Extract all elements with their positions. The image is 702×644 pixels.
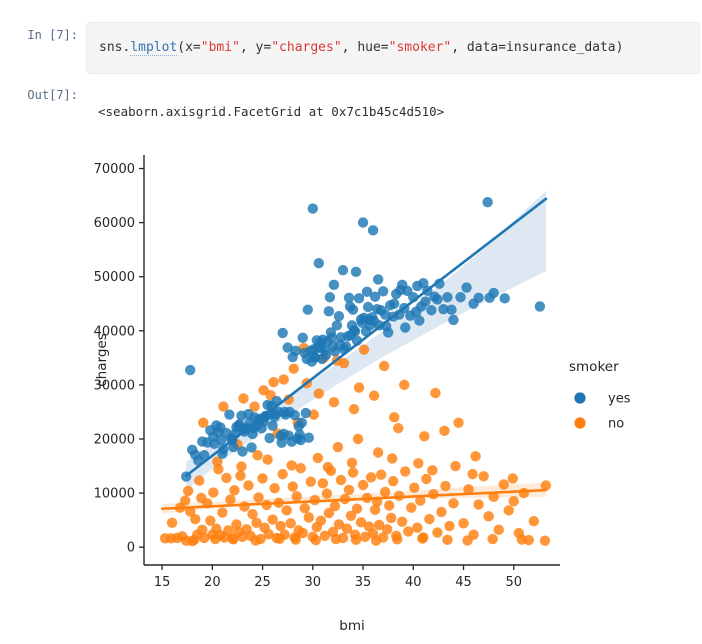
scatter-point [473,293,483,303]
scatter-point [250,535,260,545]
scatter-point [325,292,335,302]
y-tick-label: 20000 [94,432,135,447]
scatter-point [303,305,313,315]
y-axis-label: charges [94,333,110,386]
scatter-point [327,333,337,343]
scatter-point [210,534,220,544]
scatter-point [400,322,410,332]
scatter-point [363,302,373,312]
scatter-point [224,409,234,419]
scatter-point [313,453,323,463]
scatter-point [395,285,405,295]
scatter-point [269,483,279,493]
scatter-point [234,419,244,429]
code-line[interactable]: sns.lmplot(x="bmi", y="charges", hue="sm… [99,39,623,57]
scatter-point [414,315,424,325]
scatter-point [500,293,510,303]
scatter-point [508,473,518,483]
scatter-point [455,292,465,302]
scatter-point [277,469,287,479]
scatter-point [393,423,403,433]
scatter-point [253,492,263,502]
scatter-point [517,534,527,544]
scatter-point [430,388,440,398]
scatter-point [274,534,284,544]
scatter-point [235,471,245,481]
code-token-function: lmplot [130,40,177,56]
scatter-point [339,358,349,368]
code-token-module: sns. [99,40,130,55]
scatter-point [286,518,296,528]
code-token-arg-hue: , hue= [342,40,389,55]
scatter-point [276,438,286,448]
x-tick-label: 15 [154,575,171,590]
scatter-point [358,480,368,490]
scatter-point [333,442,343,452]
scatter-point [399,380,409,390]
x-tick-label: 50 [506,575,523,590]
scatter-point [217,507,227,517]
scatter-point [467,469,477,479]
scatter-point [351,267,361,277]
scatter-point [499,479,509,489]
scatter-point [190,514,200,524]
scatter-point [314,258,324,268]
legend: smoker yesno [569,359,631,432]
scatter-point [439,426,449,436]
regression-line-yes [186,199,546,476]
scatter-point [488,288,498,298]
scatter-point [221,473,231,483]
scatter-point [389,299,399,309]
scatter-point [426,305,436,315]
scatter-point [194,475,204,485]
scatter-point [382,524,392,534]
input-prompt: In [7]: [0,28,78,42]
scatter-point [362,287,372,297]
scatter-point [440,481,450,491]
scatter-point [354,382,364,392]
scatter-point [436,507,446,517]
scatter-point [450,461,460,471]
scatter-point [278,374,288,384]
scatter-point [304,512,314,522]
x-tick-label: 35 [355,575,372,590]
scatter-point [321,350,331,360]
scatter-point [432,294,442,304]
scatter-point [262,454,272,464]
scatter-point [379,361,389,371]
x-tick-label: 40 [405,575,422,590]
scatter-point [349,325,359,335]
scatter-point [442,292,452,302]
scatter-point [267,514,277,524]
scatter-point [354,293,364,303]
scatter-point [304,433,314,443]
scatter-point [338,265,348,275]
scatter-point [529,516,539,526]
scatter-point [419,431,429,441]
scatter-point [323,462,333,472]
scatter-point [420,296,430,306]
scatter-point [246,442,256,452]
scatter-point [483,511,493,521]
scatter-point [329,397,339,407]
scatter-point [409,482,419,492]
scatter-point [448,498,458,508]
scatter-point [353,434,363,444]
code-token-string-bmi: "bmi" [201,40,240,55]
scatter-point [369,316,379,326]
scatter-point [279,407,289,417]
scatter-point [478,471,488,481]
scatter-point [403,526,413,536]
scatter-point [264,433,274,443]
scatter-point [336,475,346,485]
scatter-point [359,345,369,355]
y-tick-label: 70000 [94,162,135,177]
scatter-point [291,534,301,544]
scatter-point [417,533,427,543]
code-token-string-smoker: "smoker" [389,40,452,55]
scatter-point [277,328,287,338]
scatter-point [291,346,301,356]
scatter-point [371,535,381,545]
scatter-point [397,517,407,527]
scatter-point [236,461,246,471]
scatter-point [243,480,253,490]
scatter-point [225,494,235,504]
scatter-point [369,391,379,401]
scatter-point [348,467,358,477]
scatter-point [322,488,332,498]
scatter-point [258,385,268,395]
scatter-point [400,466,410,476]
scatter-point [482,197,492,207]
y-tick-label: 0 [127,541,135,556]
scatter-point [351,535,361,545]
scatter-point [239,501,249,511]
scatter-point [329,280,339,290]
scatter-point [412,281,422,291]
code-token-arg-y: , y= [240,40,271,55]
scatter-point [357,317,367,327]
scatter-point [373,274,383,284]
scatter-point [307,356,317,366]
y-tick-label: 60000 [94,216,135,231]
legend-entries: yesno [574,392,630,432]
scatter-point [487,534,497,544]
scatter-point [296,463,306,473]
scatter-point [432,527,442,537]
scatter-point [344,293,354,303]
seaborn-lmplot-figure: 010000200003000040000500006000070000 152… [0,130,702,644]
scatter-point [257,473,267,483]
scatter-point [458,518,468,528]
code-token-arg-x: (x= [177,40,200,55]
x-axis-label: bmi [339,618,364,634]
scatter-point [209,439,219,449]
scatter-point [268,377,278,387]
scatter-point [387,453,397,463]
scatter-point [444,521,454,531]
legend-title: smoker [569,359,619,375]
code-token-arg-data: , data=insurance_data) [451,40,623,55]
plot-canvas: 010000200003000040000500006000070000 152… [0,130,702,644]
scatter-point [453,418,463,428]
scatter-point [298,333,308,343]
scatter-point [344,485,354,495]
scatter-point [347,458,357,468]
scatter-point [300,503,310,513]
legend-label-no: no [608,417,624,432]
scatter-point [292,491,302,501]
scatter-point [470,451,480,461]
scatter-point [287,460,297,470]
scatter-point [373,447,383,457]
scatter-point [461,282,471,292]
scatter-point [288,481,298,491]
scatter-point [316,515,326,525]
scatter-point [446,305,456,315]
scatter-point [413,458,423,468]
scatter-point [509,496,519,506]
x-axis-ticks: 1520253035404550 [154,565,522,590]
legend-marker-yes [574,392,585,403]
scatter-point [189,535,199,545]
scatter-point [519,488,529,498]
scatter-point [348,305,358,315]
scatter-point [183,486,193,496]
scatter-point [349,404,359,414]
scatter-point [335,340,345,350]
scatter-point [167,518,177,528]
scatter-point [427,465,437,475]
scatter-point [308,203,318,213]
x-tick-label: 20 [204,575,221,590]
scatter-point [421,474,431,484]
code-editor[interactable]: sns.lmplot(x="bmi", y="charges", hue="sm… [86,22,700,74]
y-tick-label: 50000 [94,270,135,285]
scatter-point [535,301,545,311]
scatter-point [473,499,483,509]
scatter-point [412,522,422,532]
scatter-point [358,217,368,227]
scatter-point [330,501,340,511]
scatter-point [237,446,247,456]
scatter-point [311,535,321,545]
code-token-string-charges: "charges" [271,40,341,55]
scatter-point [281,505,291,515]
scatter-point [368,225,378,235]
scatter-point [297,418,307,428]
scatter-point [238,393,248,403]
scatter-point [462,535,472,545]
scatter-point [331,534,341,544]
scatter-point [289,363,299,373]
output-repr-text: <seaborn.axisgrid.FacetGrid at 0x7c1b45c… [98,104,444,119]
scatter-point [306,477,316,487]
scatter-point [332,320,342,330]
legend-marker-no [574,417,585,428]
y-tick-label: 10000 [94,487,135,502]
scatter-point [334,311,344,321]
scatter-point [384,500,394,510]
scatter-point [314,388,324,398]
scatter-point [228,534,238,544]
scatter-point [383,327,393,337]
scatter-point [324,306,334,316]
scatter-point [424,514,434,524]
scatter-point [208,487,218,497]
output-prompt: Out[7]: [0,88,78,102]
scatter-point [380,487,390,497]
scatter-point [301,408,311,418]
scatter-point [389,412,399,422]
scatter-point [295,429,305,439]
scatter-point [366,472,376,482]
scatter-point [392,534,402,544]
scatter-point [388,476,398,486]
scatter-point [378,286,388,296]
scatter-point [406,502,416,512]
x-tick-label: 30 [305,575,322,590]
scatter-point [540,535,550,545]
scatter-point [442,535,452,545]
scatter-point [504,505,514,515]
scatter-point [318,478,328,488]
x-tick-label: 45 [455,575,472,590]
scatter-point [352,504,362,514]
scatter-point [448,315,458,325]
scatter-point [376,469,386,479]
scatter-point [386,513,396,523]
legend-label-yes: yes [608,392,631,407]
scatter-point [267,421,277,431]
scatter-point [229,485,239,495]
x-tick-label: 25 [254,575,271,590]
scatter-point [494,525,504,535]
scatter-point [185,365,195,375]
